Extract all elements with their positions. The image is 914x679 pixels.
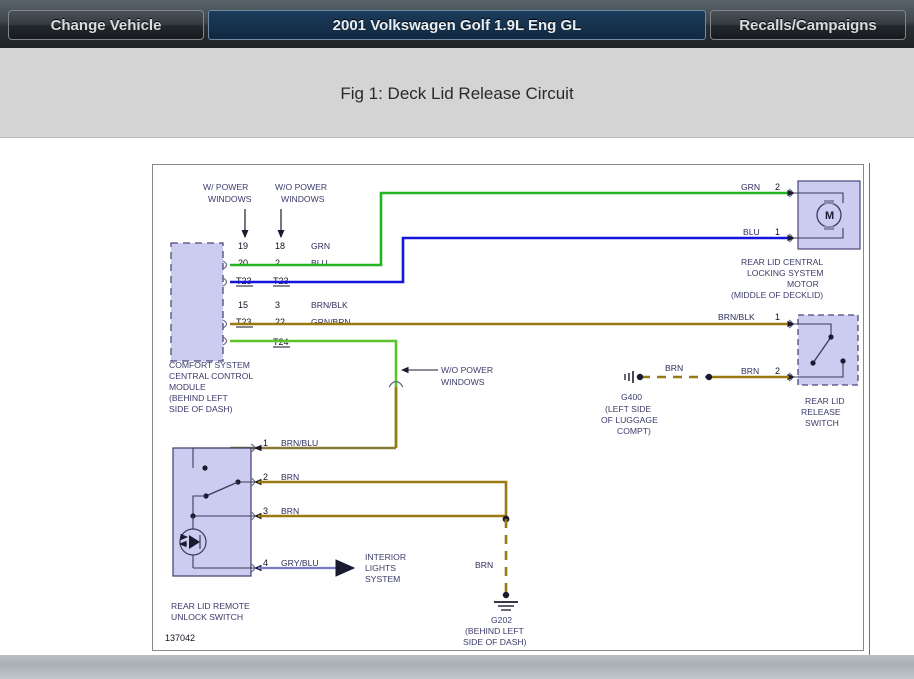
recalls-campaigns-button[interactable]: Recalls/Campaigns bbox=[710, 10, 906, 40]
splice-dot-g400-branch bbox=[706, 374, 712, 380]
footer-bar bbox=[0, 655, 914, 679]
remote-switch-body bbox=[173, 448, 251, 576]
motor-name-line1: REAR LID CENTRAL bbox=[741, 257, 823, 267]
ground-g202: G202 (BEHIND LEFT SIDE OF DASH) bbox=[463, 592, 527, 647]
annotation-with-power-windows: W/ POWER WINDOWS bbox=[203, 182, 252, 237]
vehicle-title-field[interactable]: 2001 Volkswagen Golf 1.9L Eng GL bbox=[208, 10, 706, 40]
ccm-row3-pin-wopw: 3 bbox=[275, 300, 280, 310]
ccm-row1-wire: BLU bbox=[311, 258, 328, 268]
ccm-name-line2: CENTRAL CONTROL bbox=[169, 371, 253, 381]
motor-symbol: M bbox=[825, 210, 834, 222]
annotation-wopw-line1: W/O POWER bbox=[275, 182, 327, 192]
figure-id-number: 137042 bbox=[165, 633, 195, 643]
ccm-name-line1: COMFORT SYSTEM bbox=[169, 360, 250, 370]
remote-pin-1-num: 2 bbox=[263, 472, 268, 482]
rear-lid-central-locking-motor[interactable]: M GRN 2 BLU 1 REAR LID CENTRAL LOCKING S… bbox=[731, 181, 860, 300]
remote-pin-0-num: 1 bbox=[263, 438, 268, 448]
annotation-wpw-line2: WINDOWS bbox=[208, 194, 252, 204]
release-switch-pin-top: 1 bbox=[775, 312, 780, 322]
wire-grnbrn bbox=[230, 341, 396, 448]
interior-lights-line2: LIGHTS bbox=[365, 563, 396, 573]
ground-g400: BRN G400 (LEFT SIDE OF LUGGAGE COMPT) bbox=[601, 363, 683, 436]
g400-loc-line1: (LEFT SIDE bbox=[605, 404, 651, 414]
ccm-row4-pin-wopw: 22 bbox=[275, 317, 285, 327]
remote-switch-name-line2: UNLOCK SWITCH bbox=[171, 612, 243, 622]
annotation-wopw-line2: WINDOWS bbox=[281, 194, 325, 204]
ccm-row3-wire: BRN/BLK bbox=[311, 300, 348, 310]
ccm-row0-pin-wpw: 19 bbox=[238, 241, 248, 251]
remote-pin-0-wire: BRN/BLU bbox=[281, 438, 318, 448]
g202-loc-line2: SIDE OF DASH) bbox=[463, 637, 527, 647]
release-switch-body bbox=[798, 315, 858, 385]
motor-terminal-1 bbox=[789, 234, 793, 242]
motor-wire-top: GRN bbox=[741, 182, 760, 192]
motor-wire-bottom: BLU bbox=[743, 227, 760, 237]
g400-dot bbox=[637, 374, 643, 380]
motor-pin-top: 2 bbox=[775, 182, 780, 192]
ccm-name-line3: MODULE bbox=[169, 382, 206, 392]
motor-name-line4: (MIDDLE OF DECKLID) bbox=[731, 290, 823, 300]
motor-name-line2: LOCKING SYSTEM bbox=[747, 268, 823, 278]
remote-pin-1-wire: BRN bbox=[281, 472, 299, 482]
release-switch-terminal-2 bbox=[789, 373, 793, 381]
change-vehicle-button[interactable]: Change Vehicle bbox=[8, 10, 204, 40]
annotation-wopw-mid-line2: WINDOWS bbox=[441, 377, 485, 387]
annotation-without-power-windows-mid: W/O POWER WINDOWS bbox=[402, 365, 493, 387]
ccm-body bbox=[171, 243, 223, 361]
release-switch-terminal-1 bbox=[789, 320, 793, 328]
remote-pin-3-wire: GRY/BLU bbox=[281, 558, 319, 568]
remote-pin-2-wire: BRN bbox=[281, 506, 299, 516]
interior-lights-system-label: INTERIOR LIGHTS SYSTEM bbox=[365, 552, 406, 584]
top-toolbar: Change Vehicle 2001 Volkswagen Golf 1.9L… bbox=[0, 0, 914, 48]
g202-loc-line1: (BEHIND LEFT bbox=[465, 626, 524, 636]
ccm-row4-wire: GRN/BRN bbox=[311, 317, 351, 327]
ccm-row1-pin-wopw: 2 bbox=[275, 258, 280, 268]
release-switch-wire-bottom: BRN bbox=[741, 366, 759, 376]
g400-name: G400 bbox=[621, 392, 642, 402]
g202-dot bbox=[503, 592, 509, 598]
ccm-row4-pin-wpw: T23 bbox=[236, 317, 252, 327]
page-right-rule bbox=[869, 163, 870, 655]
remote-switch-name-line1: REAR LID REMOTE bbox=[171, 601, 250, 611]
g400-loc-line3: COMPT) bbox=[617, 426, 651, 436]
release-switch-name-line2: RELEASE bbox=[801, 407, 841, 417]
annotation-without-power-windows: W/O POWER WINDOWS bbox=[275, 182, 327, 237]
motor-terminal-2 bbox=[789, 189, 793, 197]
comfort-control-module[interactable]: 19 18 GRN 20 2 BLU T23 T23 15 3 BRN/BLK … bbox=[169, 241, 351, 414]
annotation-wopw-mid-line1: W/O POWER bbox=[441, 365, 493, 375]
release-switch-pin-bottom: 2 bbox=[775, 366, 780, 376]
interior-lights-line3: SYSTEM bbox=[365, 574, 400, 584]
ccm-row3-pin-wpw: 15 bbox=[238, 300, 248, 310]
annotation-wpw-line1: W/ POWER bbox=[203, 182, 248, 192]
release-switch-name-line1: REAR LID bbox=[805, 396, 845, 406]
ccm-name-line4: (BEHIND LEFT bbox=[169, 393, 228, 403]
g202-wire: BRN bbox=[475, 560, 493, 570]
ccm-row1-pin-wpw: 20 bbox=[238, 258, 248, 268]
g400-loc-line2: OF LUGGAGE bbox=[601, 415, 658, 425]
motor-name-line3: MOTOR bbox=[787, 279, 819, 289]
rear-lid-remote-unlock-switch[interactable]: 1 BRN/BLU 2 BRN 3 BRN 4 GRY/BLU REAR LID… bbox=[171, 438, 319, 622]
wiring-diagram: W/ POWER WINDOWS W/O POWER WINDOWS 19 18… bbox=[152, 164, 864, 651]
interior-lights-line1: INTERIOR bbox=[365, 552, 406, 562]
g202-name: G202 bbox=[491, 615, 512, 625]
motor-pin-bottom: 1 bbox=[775, 227, 780, 237]
release-switch-wire-top: BRN/BLK bbox=[718, 312, 755, 322]
g400-wire: BRN bbox=[665, 363, 683, 373]
rear-lid-release-switch[interactable]: BRN/BLK 1 BRN 2 REAR LID RELEASE SWITCH bbox=[718, 312, 858, 428]
ccm-name-line5: SIDE OF DASH) bbox=[169, 404, 233, 414]
figure-caption: Fig 1: Deck Lid Release Circuit bbox=[0, 84, 914, 104]
figure-caption-band: Fig 1: Deck Lid Release Circuit bbox=[0, 48, 914, 138]
ccm-row0-wire: GRN bbox=[311, 241, 330, 251]
remote-pin-2-num: 3 bbox=[263, 506, 268, 516]
remote-pin-3-num: 4 bbox=[263, 558, 268, 568]
ccm-row0-pin-wopw: 18 bbox=[275, 241, 285, 251]
release-switch-name-line3: SWITCH bbox=[805, 418, 839, 428]
